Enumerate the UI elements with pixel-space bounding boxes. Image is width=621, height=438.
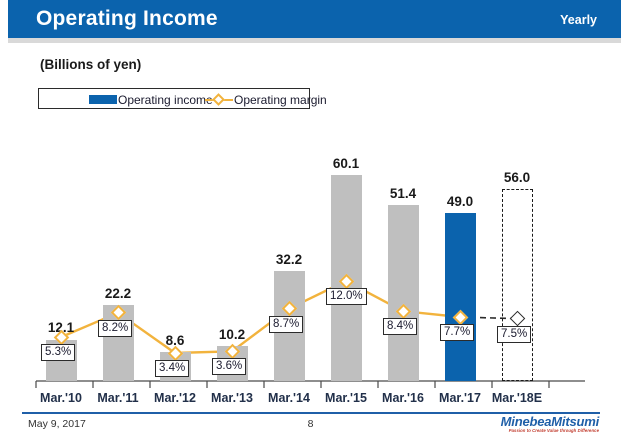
page-title: Operating Income — [36, 7, 218, 31]
bar-mar17 — [445, 213, 476, 381]
margin-value-label: 5.3% — [41, 344, 75, 361]
bar-value-label: 32.2 — [254, 252, 324, 267]
margin-value-label: 8.4% — [383, 318, 417, 335]
margin-value-label: 12.0% — [326, 288, 367, 305]
bar-value-label: 56.0 — [482, 170, 552, 185]
slide-header-bar: Operating Income Yearly — [8, 0, 621, 38]
bar-value-label: 49.0 — [425, 194, 495, 209]
margin-value-label: 7.5% — [497, 326, 531, 343]
chart-plot-area: 12.122.28.610.232.260.151.449.056.05.3%8… — [0, 43, 621, 395]
bar-mar18e — [502, 189, 533, 381]
bar-value-label: 10.2 — [197, 327, 267, 342]
x-axis-tick-label: Mar.'18E — [477, 391, 557, 405]
logo-tagline-text: Passion to Create Value through Differen… — [501, 428, 599, 434]
margin-value-label: 7.7% — [440, 324, 474, 341]
bar-mar16 — [388, 205, 419, 381]
margin-value-label: 3.6% — [212, 358, 246, 375]
period-badge: Yearly — [560, 13, 597, 27]
logo-brand-text: MinebeaMitsumi — [501, 415, 599, 428]
company-logo: MinebeaMitsumi Passion to Create Value t… — [501, 415, 599, 434]
bar-value-label: 22.2 — [83, 286, 153, 301]
margin-value-label: 8.7% — [269, 316, 303, 333]
chart-container: (Billions of yen) Operating income Opera… — [0, 43, 621, 395]
bar-value-label: 60.1 — [311, 156, 381, 171]
margin-value-label: 3.4% — [155, 360, 189, 377]
margin-value-label: 8.2% — [98, 320, 132, 337]
